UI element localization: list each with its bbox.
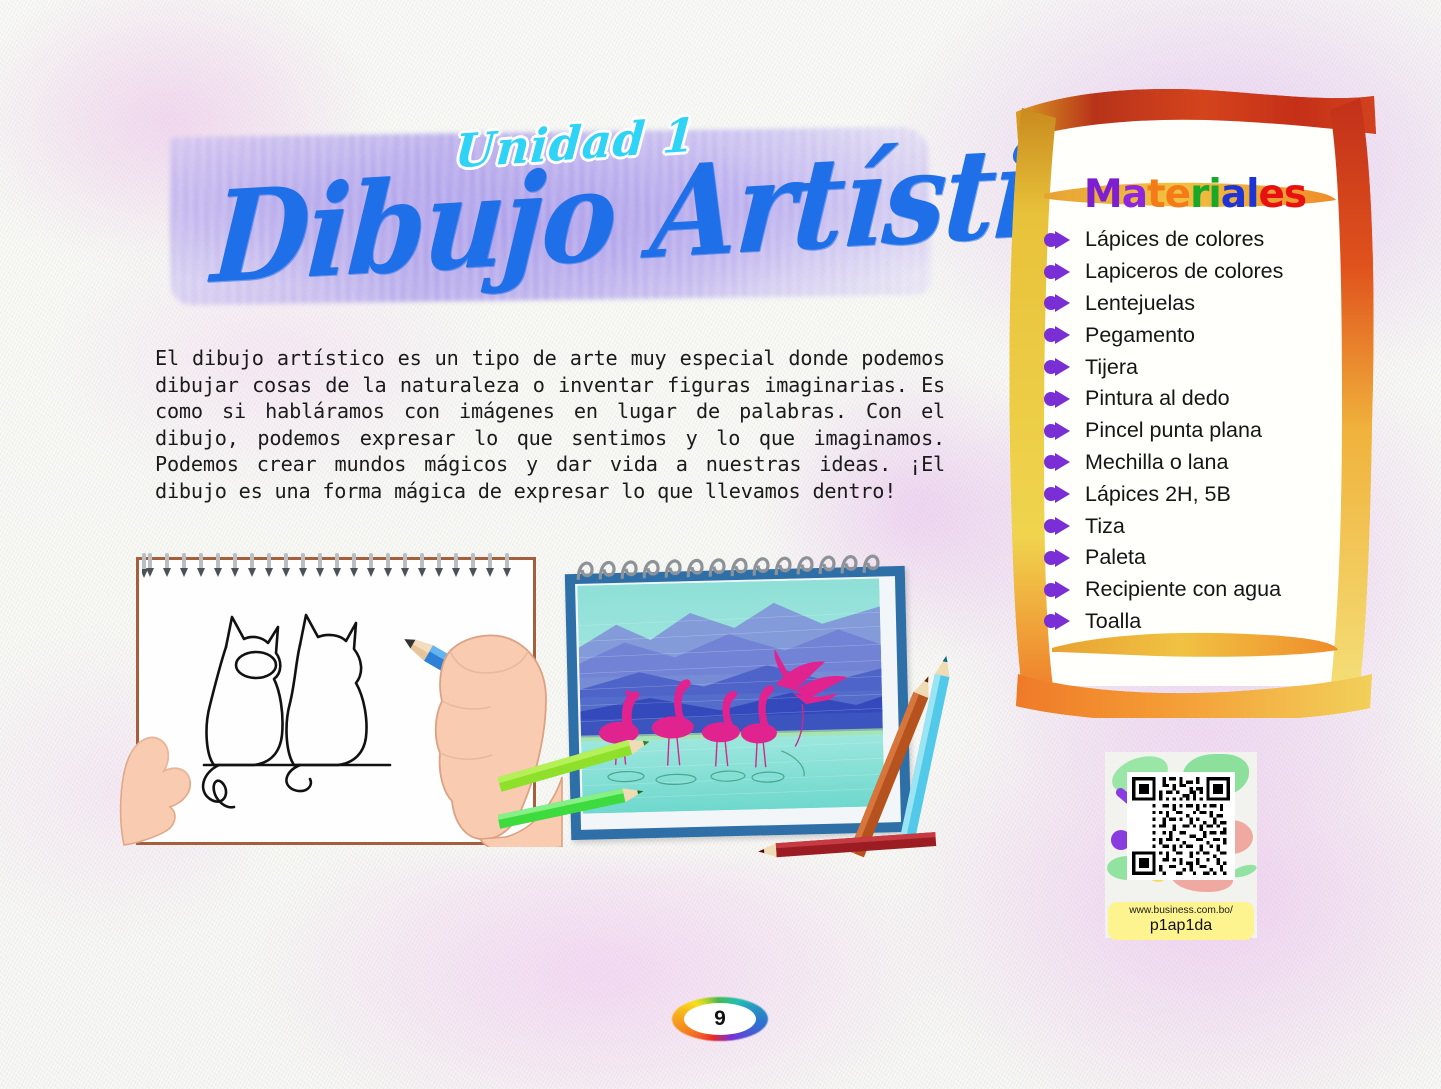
material-item: Paleta [1044, 542, 1380, 574]
qr-label: www.business.com.bo/ p1ap1da [1108, 902, 1254, 940]
material-item: Tiza [1044, 510, 1380, 542]
material-item-label: Mechilla o lana [1085, 450, 1228, 475]
materials-title-letter-9: s [1284, 172, 1306, 217]
arrow-bullet-icon [1044, 549, 1074, 567]
materials-title-letter-0: M [1084, 172, 1122, 217]
cat-line-drawing [174, 595, 424, 820]
material-item: Pintura al dedo [1044, 383, 1380, 415]
arrow-bullet-icon [1044, 263, 1074, 281]
materials-list: Lápices de coloresLapiceros de coloresLe… [1044, 224, 1380, 637]
left-hand-illustration [118, 697, 204, 847]
arrow-bullet-icon [1044, 326, 1074, 344]
materials-title-letter-5: i [1208, 172, 1220, 217]
qr-code-block[interactable]: www.business.com.bo/ p1ap1da [1105, 752, 1257, 938]
material-item: Mechilla o lana [1044, 447, 1380, 479]
arrow-bullet-icon [1044, 517, 1074, 535]
arrow-bullet-icon [1044, 390, 1074, 408]
page-number-inner: 9 [684, 1003, 756, 1035]
arrow-bullet-icon [1044, 453, 1074, 471]
material-item: Lapiceros de colores [1044, 256, 1380, 288]
material-item-label: Lentejuelas [1085, 291, 1195, 316]
materials-title-letter-6: a [1221, 172, 1246, 217]
material-item-label: Paleta [1085, 545, 1146, 570]
watercolor-wash-bottom-center [250, 860, 950, 1089]
materials-panel: Materiales Lápices de coloresLapiceros d… [1000, 82, 1390, 718]
green-pencil-icon-2 [498, 764, 678, 854]
material-item: Lápices 2H, 5B [1044, 478, 1380, 510]
illustration-hands-drawing-cats [136, 557, 536, 845]
material-item-label: Lápices 2H, 5B [1085, 482, 1231, 507]
materials-title-letter-7: l [1246, 172, 1258, 217]
illustration-flamingo-drawing [560, 552, 920, 852]
materials-title-letter-4: r [1190, 172, 1208, 217]
arrow-bullet-icon [1044, 294, 1074, 312]
material-item-label: Recipiente con agua [1085, 577, 1281, 602]
page-number-value: 9 [714, 1007, 726, 1031]
material-item-label: Tijera [1085, 355, 1138, 380]
material-item: Pegamento [1044, 319, 1380, 351]
arrow-bullet-icon [1044, 612, 1074, 630]
page-canvas: Unidad 1 Dibujo Artístico El dibujo artí… [0, 0, 1441, 1089]
qr-url-text: www.business.com.bo/ [1108, 905, 1254, 917]
material-item-label: Pincel punta plana [1085, 418, 1262, 443]
material-item-label: Tiza [1085, 514, 1125, 539]
arrow-bullet-icon [1044, 485, 1074, 503]
arrow-bullet-icon [1044, 422, 1074, 440]
title-block: Unidad 1 Dibujo Artístico [150, 110, 950, 320]
intro-paragraph: El dibujo artístico es un tipo de arte m… [155, 345, 945, 504]
material-item-label: Lapiceros de colores [1085, 259, 1283, 284]
page-number-badge: 9 [672, 997, 768, 1041]
material-item: Lentejuelas [1044, 288, 1380, 320]
material-item-label: Toalla [1085, 609, 1141, 634]
arrow-bullet-icon [1044, 231, 1074, 249]
materials-title-letter-8: e [1258, 172, 1283, 217]
materials-title: Materiales [1000, 172, 1390, 217]
materials-title-letter-1: a [1122, 172, 1147, 217]
arrow-bullet-icon [1044, 358, 1074, 376]
material-item: Tijera [1044, 351, 1380, 383]
red-pencil-icon [746, 824, 956, 868]
material-item-label: Lápices de colores [1085, 227, 1264, 252]
spiral-binding-icon [142, 553, 530, 583]
arrow-bullet-icon [1044, 581, 1074, 599]
qr-code-icon[interactable] [1127, 772, 1235, 880]
material-item: Pincel punta plana [1044, 415, 1380, 447]
materials-title-letter-3: e [1165, 172, 1190, 217]
material-item: Recipiente con agua [1044, 574, 1380, 606]
qr-code-text: p1ap1da [1108, 917, 1254, 935]
material-item: Toalla [1044, 606, 1380, 638]
materials-title-letter-2: t [1147, 172, 1165, 217]
material-item: Lápices de colores [1044, 224, 1380, 256]
material-item-label: Pegamento [1085, 323, 1195, 348]
material-item-label: Pintura al dedo [1085, 386, 1230, 411]
